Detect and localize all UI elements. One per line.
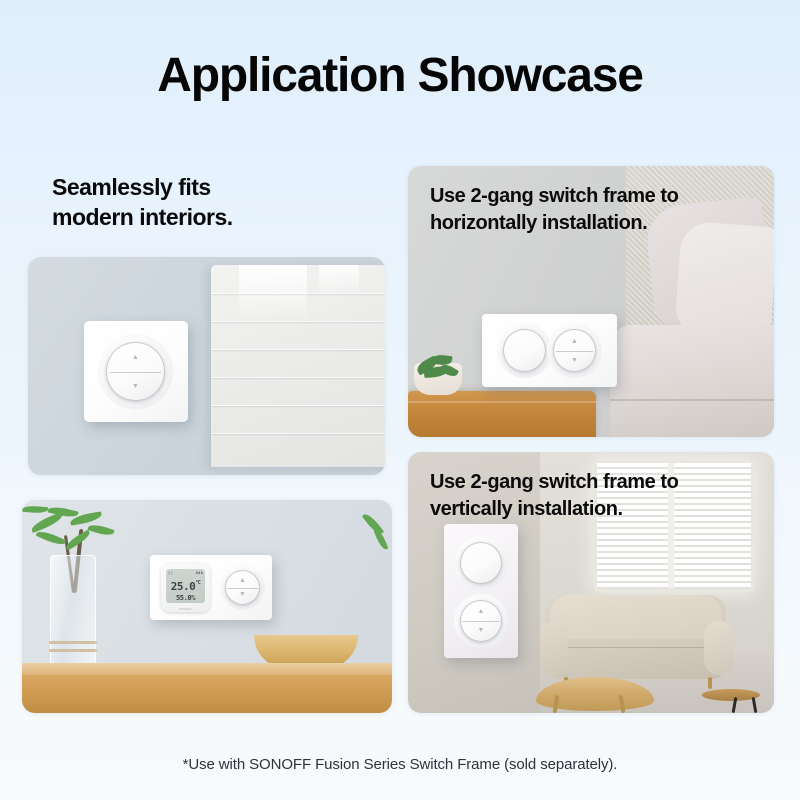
dimmer-knob-right[interactable]: ▲ ▼ xyxy=(553,329,596,372)
page-title: Application Showcase xyxy=(0,52,800,100)
dimmer-knob-ring[interactable]: ▲ ▼ xyxy=(98,334,173,409)
sensor-status-icons: ▯▯▮▮▮ xyxy=(168,570,203,575)
knob-split-line xyxy=(227,588,258,589)
switch-plate-2gang-vertical[interactable]: ▲ ▼ xyxy=(444,524,518,658)
sofa-leg xyxy=(708,677,712,689)
knob-split-line xyxy=(110,372,161,373)
apple xyxy=(308,613,328,633)
chevron-down-icon: ▼ xyxy=(478,627,485,634)
dimmer-knob[interactable]: ▲ ▼ xyxy=(225,570,260,605)
knob-split-line xyxy=(556,351,594,352)
switch-button-top-ring[interactable] xyxy=(454,536,508,590)
showcase-card-top-right: ▲ ▼ Use 2-gang switch frame to horizonta… xyxy=(408,166,774,437)
switch-button-top[interactable] xyxy=(460,542,502,584)
sofa xyxy=(546,595,726,679)
wooden-nightstand xyxy=(408,391,596,437)
knob-split-line xyxy=(462,621,499,622)
bed-duvet xyxy=(610,325,774,437)
chevron-down-icon: ▼ xyxy=(132,383,139,390)
tile-panel xyxy=(211,265,385,467)
dimmer-knob[interactable]: ▲ ▼ xyxy=(106,342,165,401)
switch-plate-2gang-horizontal[interactable]: ▲ ▼ xyxy=(482,314,617,387)
switch-plate-2gang-sensor[interactable]: ▯▯▮▮▮ 25.0°C 55.0% SONOFF ▲ ▼ xyxy=(150,555,272,620)
scene-dining-sensor: ▯▯▮▮▮ 25.0°C 55.0% SONOFF ▲ ▼ xyxy=(22,500,392,713)
chevron-down-icon: ▼ xyxy=(239,591,246,598)
dimmer-knob-right-ring[interactable]: ▲ ▼ xyxy=(547,323,602,378)
scene-single-gang-wall: ▲ ▼ xyxy=(28,257,385,475)
apple xyxy=(274,615,294,635)
sensor-temperature-value: 25.0°C xyxy=(166,580,205,593)
chevron-up-icon: ▲ xyxy=(478,608,485,615)
chevron-up-icon: ▲ xyxy=(239,577,246,584)
dimmer-knob-bottom[interactable]: ▲ ▼ xyxy=(460,600,502,642)
glass-vase xyxy=(50,555,96,667)
showcase-card-top-left: ▲ ▼ xyxy=(28,257,385,475)
dimmer-knob-bottom-ring[interactable]: ▲ ▼ xyxy=(454,594,508,648)
footnote-text: *Use with SONOFF Fusion Series Switch Fr… xyxy=(0,756,800,773)
card-caption-horizontal: Use 2-gang switch frame to horizontally … xyxy=(430,183,678,236)
switch-button-left-ring[interactable] xyxy=(497,323,552,378)
chevron-up-icon: ▲ xyxy=(132,354,139,361)
chevron-up-icon: ▲ xyxy=(571,338,578,345)
left-section-heading: Seamlessly fits modern interiors. xyxy=(52,172,233,233)
showcase-card-bottom-left: ▯▯▮▮▮ 25.0°C 55.0% SONOFF ▲ ▼ xyxy=(22,500,392,713)
showcase-card-bottom-right: ▲ ▼ Use 2-gang switch frame to verticall… xyxy=(408,452,774,713)
degree-celsius-unit: °C xyxy=(195,580,200,586)
chevron-down-icon: ▼ xyxy=(571,357,578,364)
dimmer-knob-ring[interactable]: ▲ ▼ xyxy=(220,565,265,610)
sensor-brand-label: SONOFF xyxy=(161,607,210,611)
card-caption-vertical: Use 2-gang switch frame to vertically in… xyxy=(430,469,678,522)
sensor-humidity-value: 55.0% xyxy=(166,594,205,602)
switch-plate-1gang[interactable]: ▲ ▼ xyxy=(84,321,188,422)
switch-button-left[interactable] xyxy=(503,329,546,372)
temperature-humidity-sensor[interactable]: ▯▯▮▮▮ 25.0°C 55.0% SONOFF xyxy=(161,563,210,612)
apple xyxy=(334,629,354,649)
sensor-lcd-screen: ▯▯▮▮▮ 25.0°C 55.0% xyxy=(166,569,205,603)
wooden-table xyxy=(22,663,392,713)
pillow-front xyxy=(674,221,774,339)
